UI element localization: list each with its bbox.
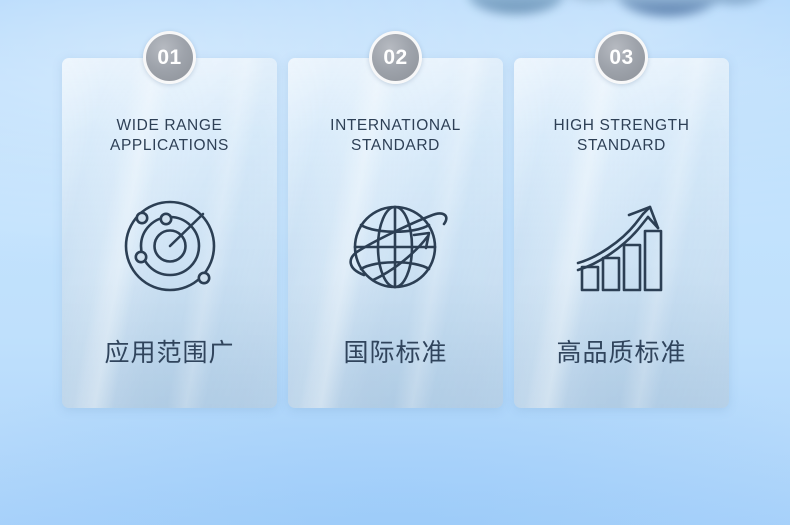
card-title-en: HIGH STRENGTH STANDARD <box>514 116 729 156</box>
feature-card[interactable]: INTERNATIONAL STANDARD 国际标准 <box>288 58 503 408</box>
feature-card-list: WIDE RANGE APPLICATIONS 应用范围广 01 <box>0 0 790 525</box>
card-number-badge: 01 <box>143 31 196 84</box>
card-title-en: WIDE RANGE APPLICATIONS <box>62 116 277 156</box>
radar-orbit-icon <box>62 186 277 306</box>
feature-cards-banner: WIDE RANGE APPLICATIONS 应用范围广 01 <box>0 0 790 525</box>
card-title-cn: 高品质标准 <box>514 333 729 369</box>
feature-card[interactable]: WIDE RANGE APPLICATIONS 应用范围广 <box>62 58 277 408</box>
feature-card[interactable]: HIGH STRENGTH STANDARD 高品质标准 <box>514 58 729 408</box>
card-title-cn: 应用范围广 <box>62 333 277 369</box>
growth-chart-icon <box>514 186 729 306</box>
card-title-cn: 国际标准 <box>288 333 503 369</box>
card-number-badge: 03 <box>595 31 648 84</box>
card-title-en: INTERNATIONAL STANDARD <box>288 116 503 156</box>
card-number-badge: 02 <box>369 31 422 84</box>
globe-arrow-icon <box>288 186 503 306</box>
